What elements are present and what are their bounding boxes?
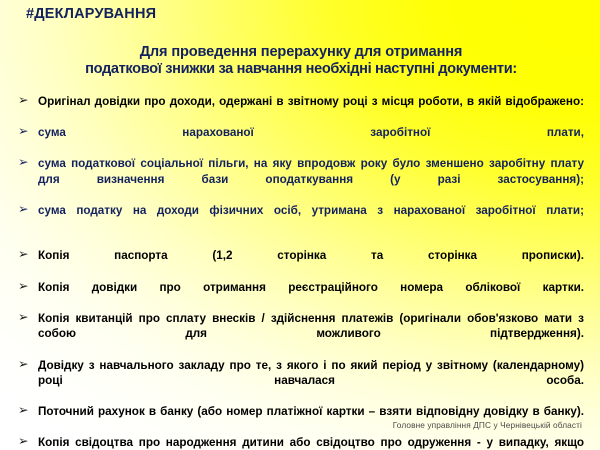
arrow-bullet-icon: ➢ bbox=[18, 202, 34, 218]
list-item: ➢Довідку з навчального закладу про те, з… bbox=[18, 358, 584, 405]
hashtag-label: #ДЕКЛАРУВАННЯ bbox=[26, 6, 156, 22]
arrow-bullet-icon: ➢ bbox=[18, 124, 34, 140]
list-item: ➢Оригінал довідки про доходи, одержані в… bbox=[18, 94, 584, 125]
list-item-text: Копія свідоцтва про народження дитини аб… bbox=[38, 435, 584, 450]
list-item-text: Довідку з навчального закладу про те, з … bbox=[38, 358, 584, 405]
list-item: ➢Копія квитанцій про сплату внесків / зд… bbox=[18, 311, 584, 358]
arrow-bullet-icon: ➢ bbox=[18, 310, 34, 326]
list-item: ➢сума нарахованої заробітної плати, bbox=[18, 125, 584, 156]
list-item-text: сума податкової соціальної пільги, на як… bbox=[38, 156, 584, 203]
document-requirements-list: ➢Оригінал довідки про доходи, одержані в… bbox=[18, 94, 584, 450]
list-item: ➢Копія свідоцтва про народження дитини а… bbox=[18, 435, 584, 450]
page-title-line-1: Для проведення перерахунку для отримання bbox=[30, 44, 572, 61]
list-item: ➢сума податкової соціальної пільги, на я… bbox=[18, 156, 584, 203]
list-item: ➢сума податку на доходи фізичних осіб, у… bbox=[18, 203, 584, 234]
arrow-bullet-icon: ➢ bbox=[18, 357, 34, 373]
arrow-bullet-icon: ➢ bbox=[18, 93, 34, 109]
list-item-text: Копія паспорта (1,2 сторінка та сторінка… bbox=[38, 248, 584, 279]
list-item-text: сума нарахованої заробітної плати, bbox=[38, 125, 584, 156]
arrow-bullet-icon: ➢ bbox=[18, 247, 34, 263]
list-item-text: Оригінал довідки про доходи, одержані в … bbox=[38, 94, 584, 125]
arrow-bullet-icon: ➢ bbox=[18, 403, 34, 419]
arrow-bullet-icon: ➢ bbox=[18, 155, 34, 171]
page-title: Для проведення перерахунку для отримання… bbox=[30, 44, 572, 78]
list-item-text: сума податку на доходи фізичних осіб, ут… bbox=[38, 203, 584, 234]
slide-canvas: #ДЕКЛАРУВАННЯ Для проведення перерахунку… bbox=[0, 0, 600, 450]
group-spacer bbox=[18, 234, 584, 248]
list-item: ➢Копія паспорта (1,2 сторінка та сторінк… bbox=[18, 248, 584, 279]
list-item-text: Копія довідки про отримання реєстраційно… bbox=[38, 280, 584, 311]
list-item: ➢Копія довідки про отримання реєстраційн… bbox=[18, 280, 584, 311]
footer-attribution: Головне управління ДПС у Чернівецькій об… bbox=[393, 420, 582, 430]
arrow-bullet-icon: ➢ bbox=[18, 279, 34, 295]
arrow-bullet-icon: ➢ bbox=[18, 434, 34, 450]
page-title-line-2: податкової знижки за навчання необхідні … bbox=[30, 61, 572, 78]
list-item-text: Копія квитанцій про сплату внесків / зді… bbox=[38, 311, 584, 358]
